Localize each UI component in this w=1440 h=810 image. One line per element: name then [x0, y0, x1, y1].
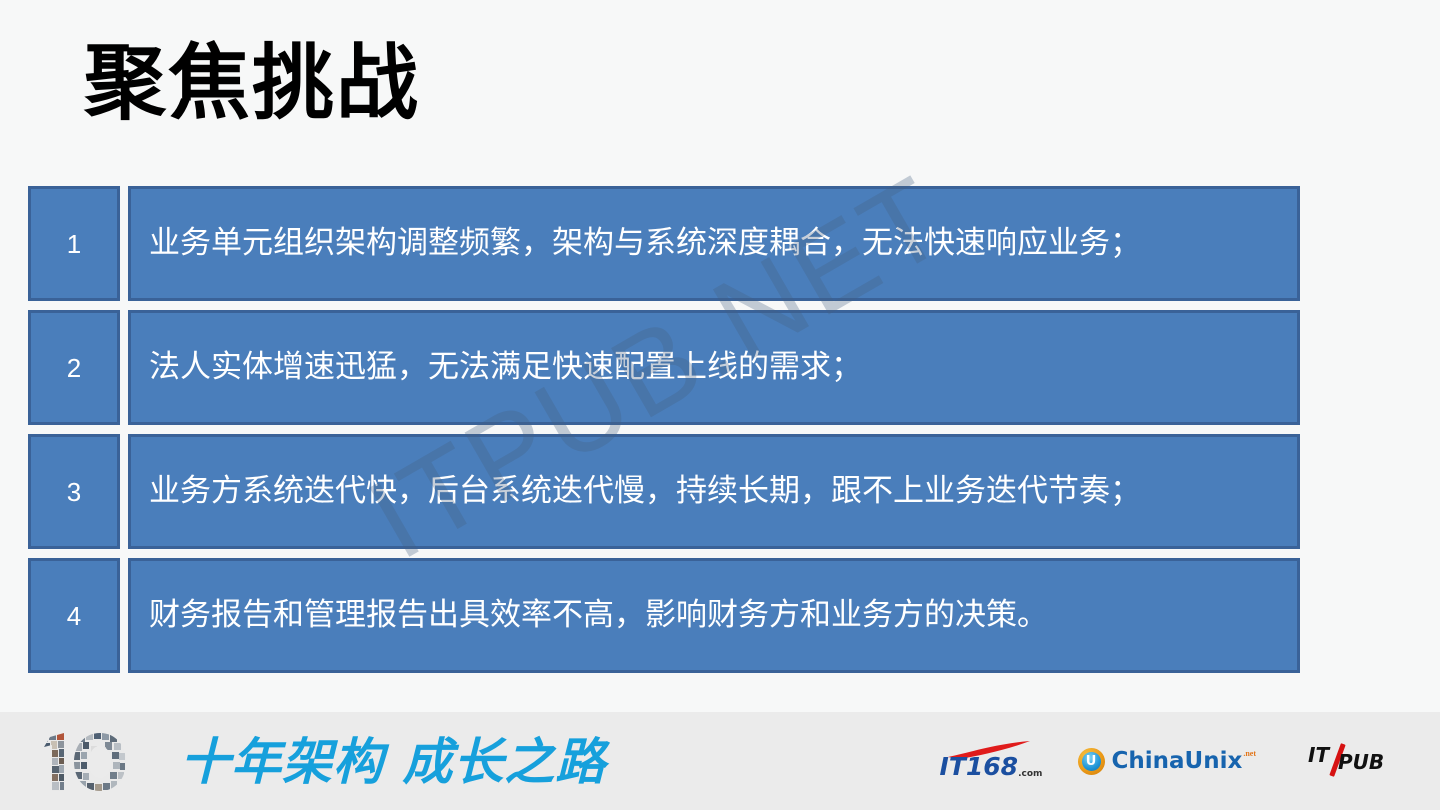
chinaunix-logo[interactable]: U ChinaUnix .net	[1078, 741, 1262, 781]
row-number-cell: 3	[28, 434, 120, 549]
itpub-logo[interactable]: IT PUB	[1308, 741, 1390, 781]
row-text-cell: 法人实体增速迅猛，无法满足快速配置上线的需求；	[128, 310, 1300, 425]
row-text-label: 法人实体增速迅猛，无法满足快速配置上线的需求；	[149, 348, 862, 387]
presentation-slide: 聚焦挑战 ITPUB.NET 1 业务单元组织架构调整频繁，架构与系统深度耦合，…	[0, 0, 1440, 810]
row-text-label: 业务方系统迭代快，后台系统迭代慢，持续长期，跟不上业务迭代节奏；	[149, 472, 1141, 511]
table-row: 4 财务报告和管理报告出具效率不高，影响财务方和业务方的决策。	[28, 558, 1300, 673]
page-title: 聚焦挑战	[84, 36, 420, 130]
sponsor-logos: IT168.com U ChinaUnix .net IT	[940, 738, 1390, 784]
table-row: 1 业务单元组织架构调整频繁，架构与系统深度耦合，无法快速响应业务；	[28, 186, 1300, 301]
footer-slogan: 十年架构 成长之路	[180, 737, 606, 787]
row-text-cell: 业务方系统迭代快，后台系统迭代慢，持续长期，跟不上业务迭代节奏；	[128, 434, 1300, 549]
row-number-label: 3	[67, 479, 81, 505]
table-row: 3 业务方系统迭代快，后台系统迭代慢，持续长期，跟不上业务迭代节奏；	[28, 434, 1300, 549]
it168-logo[interactable]: IT168.com	[940, 741, 1032, 781]
row-number-cell: 4	[28, 558, 120, 673]
row-number-label: 2	[67, 355, 81, 381]
chinaunix-primary-label: ChinaUnix	[1112, 750, 1243, 773]
chinaunix-badge-icon: U	[1078, 748, 1105, 775]
row-text-label: 业务单元组织架构调整频繁，架构与系统深度耦合，无法快速响应业务；	[149, 224, 1141, 263]
row-number-cell: 1	[28, 186, 120, 301]
itpub-secondary-label: PUB	[1338, 752, 1384, 772]
it168-primary-label: IT168	[940, 752, 1019, 781]
anniversary-10-mosaic-icon	[34, 729, 152, 795]
row-text-cell: 财务报告和管理报告出具效率不高，影响财务方和业务方的决策。	[128, 558, 1300, 673]
row-text-label: 财务报告和管理报告出具效率不高，影响财务方和业务方的决策。	[149, 596, 1048, 635]
it168-secondary-label: .com	[1018, 769, 1042, 779]
row-text-cell: 业务单元组织架构调整频繁，架构与系统深度耦合，无法快速响应业务；	[128, 186, 1300, 301]
row-number-label: 4	[67, 603, 81, 629]
footer-branding: 十年架构 成长之路	[34, 726, 606, 798]
row-number-label: 1	[67, 231, 81, 257]
table-row: 2 法人实体增速迅猛，无法满足快速配置上线的需求；	[28, 310, 1300, 425]
itpub-primary-label: IT	[1308, 745, 1329, 765]
chinaunix-badge-letter: U	[1082, 752, 1101, 771]
challenge-table: 1 业务单元组织架构调整频繁，架构与系统深度耦合，无法快速响应业务； 2 法人实…	[28, 186, 1300, 673]
row-number-cell: 2	[28, 310, 120, 425]
chinaunix-secondary-label: .net	[1243, 749, 1256, 758]
footer-bar: 十年架构 成长之路 IT168.com U	[0, 710, 1440, 810]
